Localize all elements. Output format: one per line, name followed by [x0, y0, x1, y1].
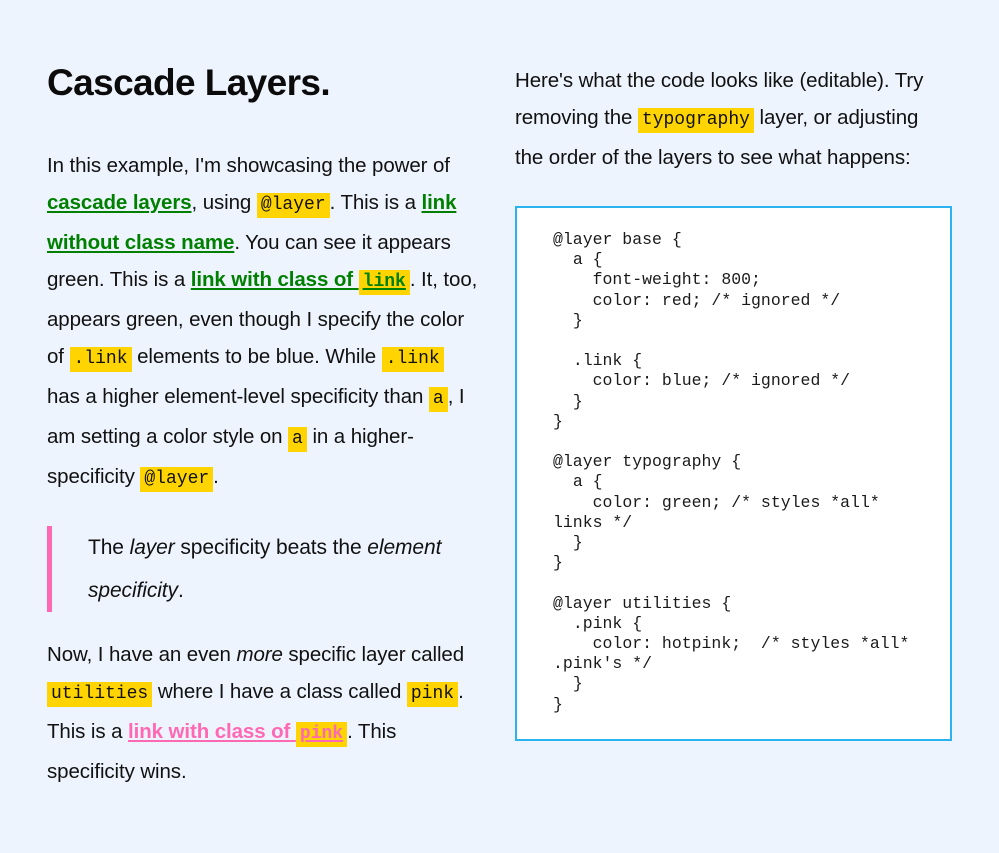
link-with-class-of-link[interactable]: link with class of link [191, 268, 410, 291]
code-pink-1: pink [407, 682, 458, 707]
outro-text-2: specific layer called [283, 643, 464, 666]
code-atlayer-2: @layer [140, 467, 213, 492]
code-dotlink-2: .link [382, 347, 444, 372]
pull-quote-text: The layer specificity beats the element … [88, 526, 479, 612]
code-atlayer-1: @layer [257, 193, 330, 218]
code-utilities: utilities [47, 682, 152, 707]
quote-text-2: specificity beats the [175, 536, 368, 559]
page-title: Cascade Layers. [47, 62, 479, 105]
intro-text-1: In this example, I'm showcasing the powe… [47, 154, 450, 177]
code-typography: typography [638, 108, 754, 133]
link-cascade-layers[interactable]: cascade layers [47, 191, 192, 214]
link-with-class-of-pink-label: link with class of [128, 720, 290, 743]
code-pink-2: pink [296, 722, 347, 747]
code-editor-panel[interactable]: @layer base { a { font-weight: 800; colo… [515, 206, 952, 741]
intro-text-2: , using [192, 191, 257, 214]
code-link-inline: link [359, 270, 410, 295]
quote-emphasis-layer: layer [130, 536, 175, 559]
code-dotlink-1: .link [70, 347, 132, 372]
outro-text-1: Now, I have an even [47, 643, 236, 666]
quote-text-1: The [88, 536, 130, 559]
pull-quote: The layer specificity beats the element … [47, 526, 479, 612]
intro-text-10: . [213, 465, 219, 488]
quote-text-3: . [178, 579, 184, 602]
intro-text-7: has a higher element-level specificity t… [47, 385, 429, 408]
intro-text-3: . This is a [330, 191, 422, 214]
intro-paragraph: In this example, I'm showcasing the powe… [47, 147, 479, 498]
outro-emphasis-more: more [236, 643, 282, 666]
link-with-class-of-link-label: link with class of [191, 268, 353, 291]
page-root: Cascade Layers. In this example, I'm sho… [0, 0, 999, 853]
code-lead-paragraph: Here's what the code looks like (editabl… [515, 62, 952, 176]
code-a-1: a [429, 387, 448, 412]
right-column: Here's what the code looks like (editabl… [515, 62, 952, 741]
code-editor-content[interactable]: @layer base { a { font-weight: 800; colo… [553, 230, 924, 715]
code-a-2: a [288, 427, 307, 452]
outro-text-3: where I have a class called [152, 680, 407, 703]
intro-text-6: elements to be blue. While [132, 345, 382, 368]
outro-paragraph: Now, I have an even more specific layer … [47, 636, 479, 790]
left-column: Cascade Layers. In this example, I'm sho… [47, 62, 479, 790]
link-with-class-of-pink[interactable]: link with class of pink [128, 720, 347, 743]
